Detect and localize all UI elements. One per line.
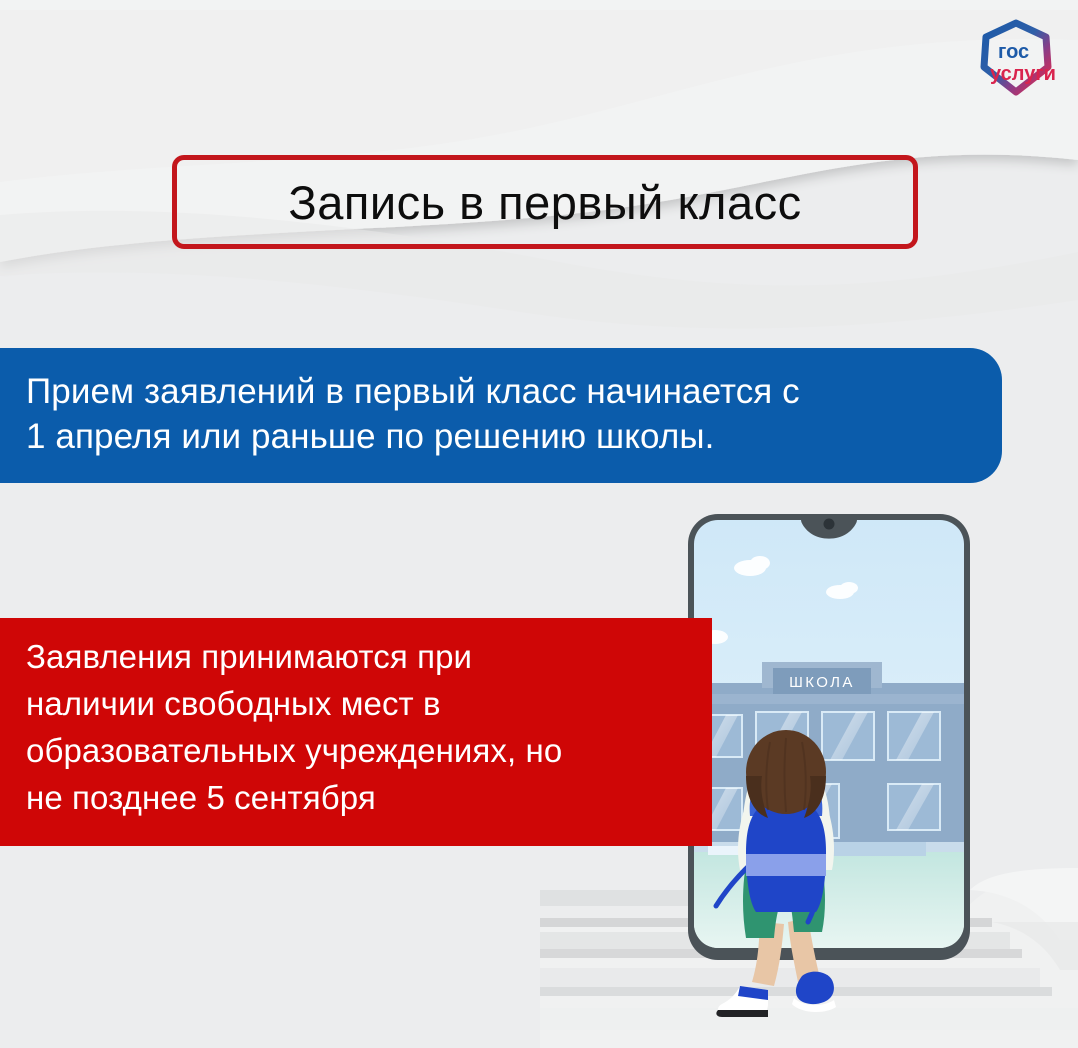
gosuslugi-logo: гос услуги гос услуги xyxy=(968,18,1064,98)
smartphone-mockup: ШКОЛА xyxy=(688,514,970,960)
red-banner-line-4: не позднее 5 сентября xyxy=(26,775,694,822)
page-title-box: Запись в первый класс xyxy=(172,155,918,249)
red-info-banner: Заявления принимаются при наличии свобод… xyxy=(0,618,712,846)
blue-banner-line-1: Прием заявлений в первый класс начинаетс… xyxy=(26,370,968,415)
blue-info-banner: Прием заявлений в первый класс начинаетс… xyxy=(0,348,1002,483)
red-banner-line-3: образовательных учреждениях, но xyxy=(26,728,694,775)
page-title: Запись в первый класс xyxy=(288,175,801,230)
blue-banner-line-2: 1 апреля или раньше по решению школы. xyxy=(26,415,968,460)
logo-text-gos: гос xyxy=(998,41,1029,63)
infographic-canvas: гос услуги гос услуги Запись в первый кл… xyxy=(0,0,1078,1048)
front-camera-icon xyxy=(824,519,835,530)
phone-screen: ШКОЛА xyxy=(694,520,964,954)
red-banner-line-2: наличии свободных мест в xyxy=(26,681,694,728)
school-sign-text: ШКОЛА xyxy=(789,674,855,691)
red-banner-line-1: Заявления принимаются при xyxy=(26,634,694,681)
logo-text-uslugi: услуги xyxy=(990,63,1056,85)
